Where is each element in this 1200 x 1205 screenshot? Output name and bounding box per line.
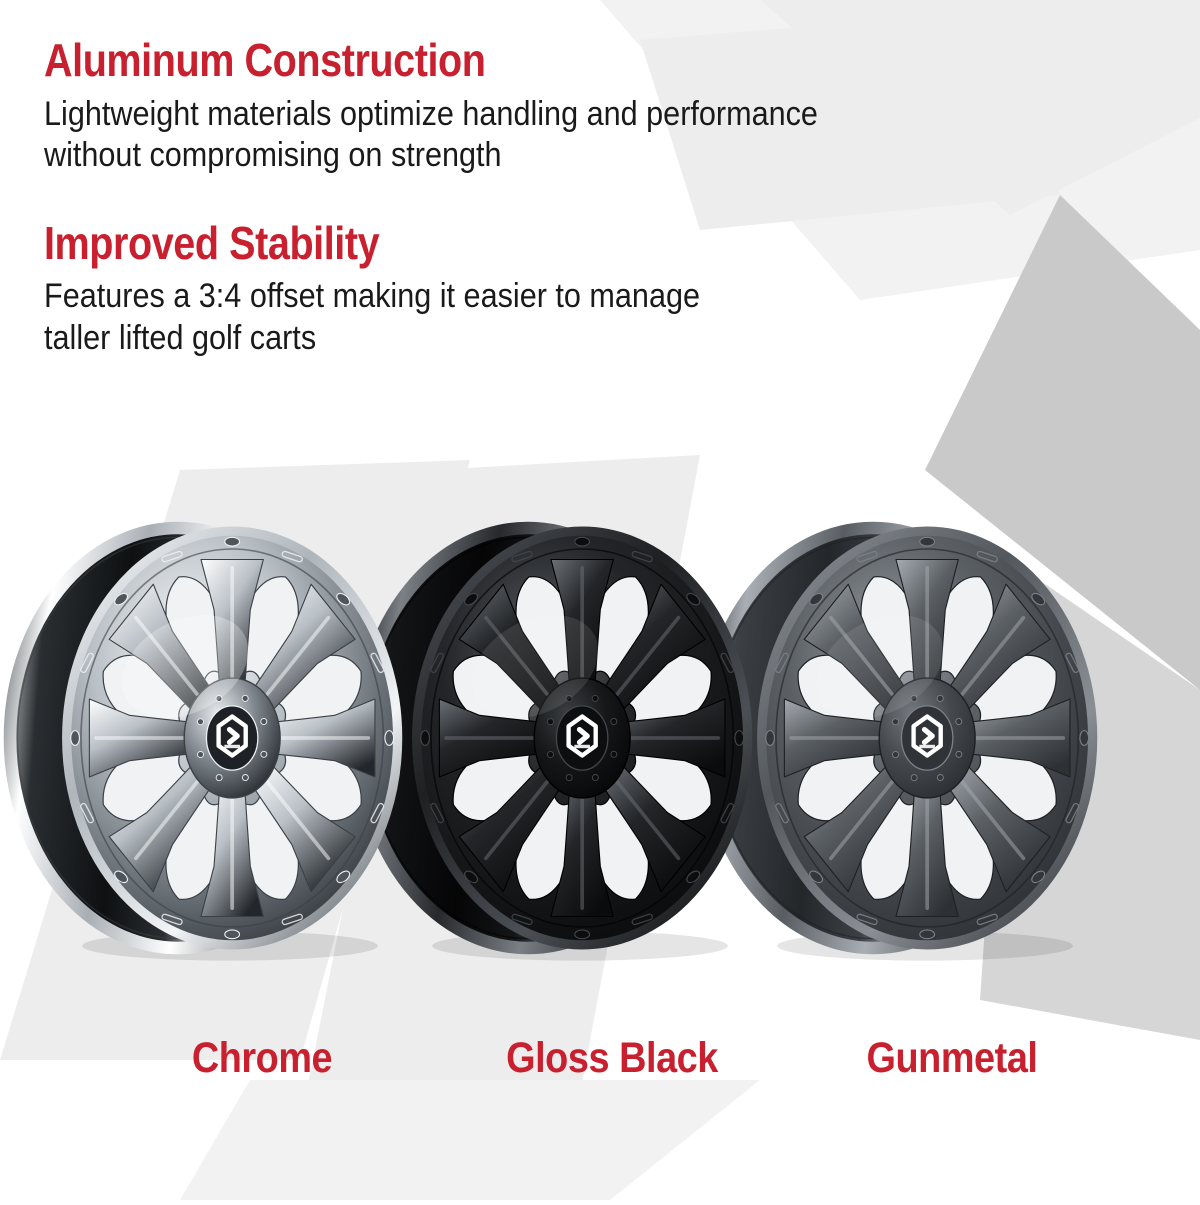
wheel-label-chrome: Chrome — [192, 1034, 332, 1083]
lug-bolt — [216, 775, 222, 781]
logo-wordmark — [224, 745, 240, 748]
lug-bolt — [937, 695, 943, 701]
bolt-hole — [71, 731, 80, 746]
bolt-hole — [1080, 731, 1089, 746]
lug-bolt — [548, 751, 554, 757]
wheel-labels: Chrome Gloss Black Gunmetal — [0, 1034, 1200, 1104]
wheel-label-gloss-black: Gloss Black — [506, 1034, 718, 1083]
bolt-hole — [920, 930, 935, 939]
product-feature-graphic: Aluminum Construction Lightweight materi… — [0, 0, 1200, 1200]
wheel-chrome — [10, 528, 400, 961]
feature-copy-block: Aluminum Construction Lightweight materi… — [44, 36, 904, 359]
logo-wordmark — [574, 745, 590, 748]
bolt-hole — [225, 930, 240, 939]
feature-1-body-line-2: without compromising on strength — [44, 135, 818, 176]
bolt-hole — [575, 930, 590, 939]
lug-bolt — [198, 751, 204, 757]
feature-2: Improved Stability Features a 3:4 offset… — [44, 219, 904, 360]
lug-bolt — [242, 775, 248, 781]
lug-bolt — [242, 695, 248, 701]
feature-2-body: Features a 3:4 offset making it easier t… — [44, 276, 818, 359]
lug-bolt — [261, 751, 267, 757]
lug-bolt — [547, 719, 553, 725]
feature-2-body-line-1: Features a 3:4 offset making it easier t… — [44, 276, 818, 317]
feature-1-body-line-1: Lightweight materials optimize handling … — [44, 94, 818, 135]
bolt-hole — [920, 537, 935, 546]
wheel-gloss-black — [360, 528, 750, 961]
lug-bolt — [937, 775, 943, 781]
wheel-color-lineup — [0, 480, 1200, 1000]
feature-2-heading: Improved Stability — [44, 219, 784, 269]
lug-bolt — [911, 775, 917, 781]
feature-1-heading: Aluminum Construction — [44, 36, 784, 86]
lug-bolt — [956, 751, 962, 757]
feature-1: Aluminum Construction Lightweight materi… — [44, 36, 904, 177]
feature-1-body: Lightweight materials optimize handling … — [44, 94, 818, 177]
bolt-hole — [735, 731, 744, 746]
lug-bolt — [611, 718, 617, 724]
bolt-hole — [766, 731, 775, 746]
wheel-gunmetal — [705, 528, 1095, 961]
bolt-hole — [421, 731, 430, 746]
logo-wordmark — [919, 745, 935, 748]
bolt-hole — [575, 537, 590, 546]
lug-bolt — [566, 775, 572, 781]
wheel-label-gunmetal: Gunmetal — [867, 1034, 1038, 1083]
wheels-svg — [0, 480, 1200, 1000]
lug-bolt — [956, 718, 962, 724]
lug-bolt — [592, 775, 598, 781]
lug-bolt — [892, 719, 898, 725]
lug-bolt — [592, 695, 598, 701]
lug-bolt — [261, 718, 267, 724]
bolt-hole — [225, 537, 240, 546]
lug-bolt — [611, 751, 617, 757]
lug-bolt — [893, 751, 899, 757]
bolt-hole — [385, 731, 394, 746]
lug-bolt — [197, 719, 203, 725]
feature-2-body-line-2: taller lifted golf carts — [44, 318, 818, 359]
